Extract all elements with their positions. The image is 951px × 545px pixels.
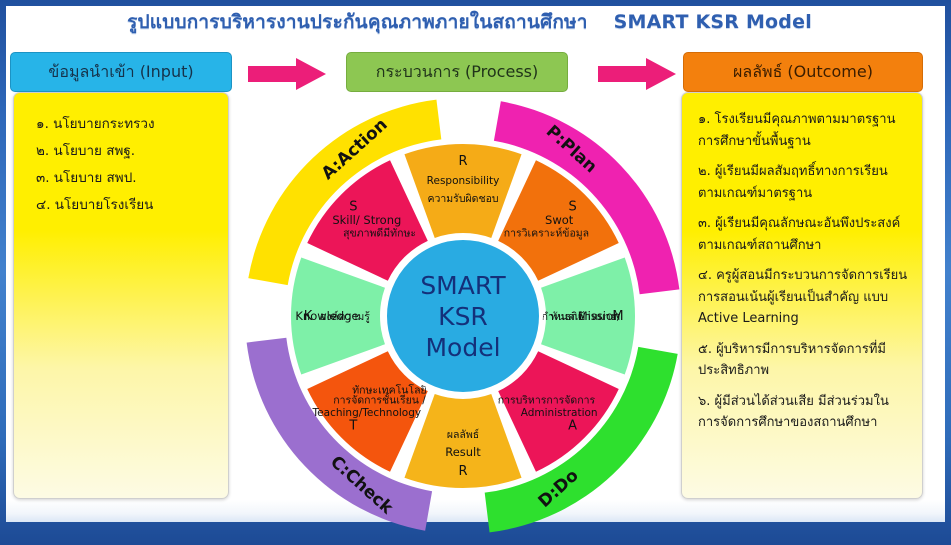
- segment-letter: R: [458, 464, 467, 479]
- input-list: ๑. นโยบายกระทรวง ๒. นโยบาย สพฐ. ๓. นโยบา…: [36, 111, 214, 219]
- segment-letter: T: [348, 419, 357, 434]
- outcome-panel: ๑. โรงเรียนมีคุณภาพตามมาตรฐานการศึกษาขั้…: [681, 92, 923, 499]
- list-item: ๒. ผู้เรียนมีผลสัมฤทธิ์ทางการเรียนตามเกณ…: [698, 161, 910, 204]
- segment-letter: A: [568, 419, 577, 434]
- list-item: ๖. ผู้มีส่วนได้ส่วนเสีย มีส่วนร่วมในการจ…: [698, 391, 910, 434]
- segment-thai: ทักษะเทคโนโลยี: [352, 384, 426, 397]
- segment-english: Administration: [521, 407, 598, 419]
- header-outcome[interactable]: ผลลัพธ์ (Outcome): [683, 52, 923, 92]
- wheel-svg: P:PlanD:DoC:CheckA:ActionRResponsibility…: [243, 96, 683, 536]
- input-panel: ๑. นโยบายกระทรวง ๒. นโยบาย สพฐ. ๓. นโยบา…: [13, 92, 229, 499]
- smart-ksr-wheel: P:PlanD:DoC:CheckA:ActionRResponsibility…: [243, 96, 683, 536]
- list-item: ๒. นโยบาย สพฐ.: [36, 138, 214, 165]
- list-item: ๕. ผู้บริหารมีการบริหารจัดการที่มีประสิท…: [698, 339, 910, 382]
- segment-thai: การบริหารการจัดการ: [498, 394, 596, 406]
- list-item: ๔. นโยบายโรงเรียน: [36, 192, 214, 219]
- header-input[interactable]: ข้อมูลนำเข้า (Input): [10, 52, 232, 92]
- segment-english: Result: [445, 445, 481, 459]
- segment-thai: สุขภาพดีมีทักษะ: [343, 227, 416, 240]
- segment-thai: การวิเคราะห์ข้อมูล: [504, 227, 589, 240]
- header-process-label: กระบวนการ (Process): [376, 60, 538, 85]
- segment-thai: ความรับผิดชอบ: [427, 193, 498, 205]
- outcome-list: ๑. โรงเรียนมีคุณภาพตามมาตรฐานการศึกษาขั้…: [698, 109, 910, 434]
- segment-english: Responsibility: [427, 175, 500, 187]
- hub-line: Model: [425, 333, 500, 362]
- page-title: รูปแบบการบริหารงานประกันคุณภาพภายในสถานศ…: [0, 6, 939, 38]
- slide-root: รูปแบบการบริหารงานประกันคุณภาพภายในสถานศ…: [0, 0, 951, 545]
- segment-english: Skill/ Strong: [332, 213, 401, 227]
- list-item: ๓. นโยบาย สพป.: [36, 165, 214, 192]
- list-item: ๑. นโยบายกระทรวง: [36, 111, 214, 138]
- segment-english: Swot: [545, 213, 574, 227]
- list-item: ๓. ผู้เรียนมีคุณลักษณะอันพึงประสงค์ตามเก…: [698, 213, 910, 256]
- hub-line: KSR: [438, 302, 488, 331]
- segment-thai: พันธกิจ: [550, 311, 583, 323]
- segment-thai: ผลลัพธ์: [447, 428, 479, 441]
- segment-english: Teaching/Technology: [312, 407, 422, 419]
- title-english: SMART KSR Model: [614, 11, 812, 33]
- title-thai: รูปแบบการบริหารงานประกันคุณภาพภายในสถานศ…: [127, 7, 588, 37]
- arrow-process-to-outcome: [598, 58, 676, 94]
- hub-line: SMART: [420, 271, 506, 300]
- list-item: ๑. โรงเรียนมีคุณภาพตามมาตรฐานการศึกษาขั้…: [698, 109, 910, 152]
- header-input-label: ข้อมูลนำเข้า (Input): [48, 60, 193, 85]
- segment-thai: องค์ความรู้: [320, 310, 370, 323]
- header-outcome-label: ผลลัพธ์ (Outcome): [733, 60, 873, 85]
- segment-letter: R: [458, 154, 467, 169]
- arrow-input-to-process: [248, 58, 326, 94]
- header-process[interactable]: กระบวนการ (Process): [346, 52, 568, 92]
- list-item: ๔. ครูผู้สอนมีกระบวนการจัดการเรียนการสอน…: [698, 265, 910, 330]
